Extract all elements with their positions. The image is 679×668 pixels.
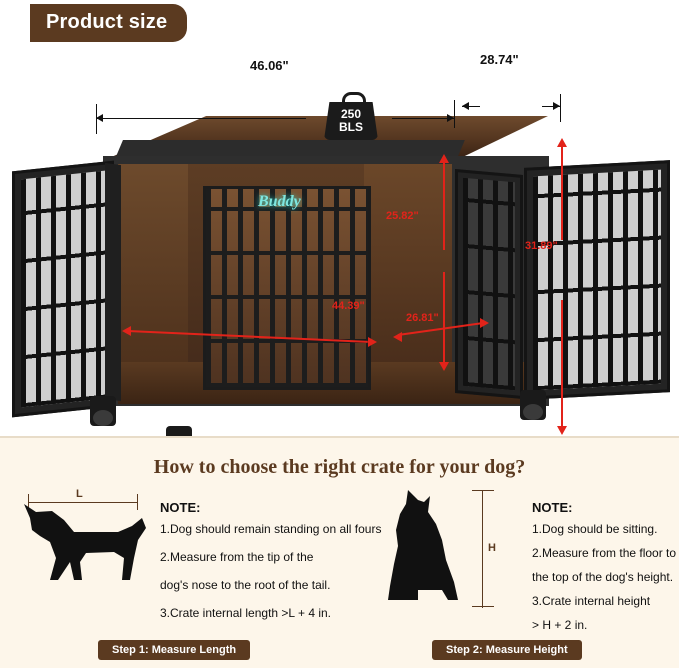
dim-arrow-internal-depth-right (480, 318, 489, 328)
dim-arrow-internal-length-right (368, 337, 377, 347)
dim-arrow-outer-height-down (557, 426, 567, 435)
dim-arrow-inner-height-up (439, 154, 449, 163)
left-note-1: 1.Dog should remain standing on all four… (160, 520, 381, 539)
dim-line-inner-height-lower (443, 272, 445, 364)
crate-front-grille (203, 186, 371, 390)
crate-door-left-hinge-panel (105, 163, 121, 401)
nameplate-text: Buddy (258, 193, 301, 211)
dog-standing-silhouette (22, 500, 148, 590)
crate-interior-left-wall (118, 164, 188, 394)
right-note-2: 2.Measure from the floor to (532, 544, 676, 563)
caster-wheel (520, 390, 546, 420)
caster-wheel (90, 396, 116, 426)
product-size-banner: Product size (30, 4, 187, 42)
dim-label-internal-length: 44.39" (332, 300, 365, 312)
dim-label-internal-depth: 26.81" (406, 312, 439, 324)
door-right-inner-bars (463, 178, 515, 391)
right-note-5: > H + 2 in. (532, 616, 587, 635)
crate-interior-right-wall (364, 164, 452, 394)
dim-arrow-outer-height-up (557, 138, 567, 147)
right-note-heading: NOTE: (532, 500, 572, 515)
dim-arrow-width-right (447, 114, 454, 122)
left-note-3: dog's nose to the root of the tail. (160, 576, 330, 595)
dog-sitting-silhouette (384, 490, 470, 610)
dim-arrow-internal-length-left (122, 326, 131, 336)
crate-door-right-outer (524, 160, 670, 400)
door-left-bars (21, 171, 105, 408)
dim-line-inner-height-upper (443, 160, 445, 250)
crate-door-left (12, 161, 114, 418)
dim-arrow-inner-height-down (439, 362, 449, 371)
weight-capacity-badge: 250 BLS (322, 92, 380, 140)
dim-label-outer-height: 31.89" (525, 240, 558, 252)
crate-door-right-inner (455, 169, 523, 399)
dim-arrow-depth-right (553, 102, 560, 110)
grille-bars (206, 189, 368, 387)
dim-line-outer-height-lower (561, 300, 563, 428)
weight-unit: BLS (324, 121, 378, 134)
height-measure-line (482, 490, 483, 608)
step-2-label: Step 2: Measure Height (432, 640, 582, 660)
weight-value-block: 250 BLS (324, 102, 378, 140)
dim-tick-width-right (454, 100, 455, 128)
dim-label-inner-height: 25.82" (386, 210, 419, 222)
dim-label-depth-top: 28.74" (480, 52, 519, 67)
right-note-4: 3.Crate internal height (532, 592, 650, 611)
right-note-1: 1.Dog should be sitting. (532, 520, 657, 539)
height-measure-label: H (488, 542, 496, 554)
left-note-heading: NOTE: (160, 500, 200, 515)
dim-tick-width-left (96, 104, 97, 134)
step-1-label: Step 1: Measure Length (98, 640, 250, 660)
guide-title: How to choose the right crate for your d… (0, 456, 679, 479)
dim-line-width-left (96, 118, 306, 119)
dim-arrow-internal-depth-left (393, 332, 402, 342)
product-size-infographic: Product size Buddy 250 (0, 0, 679, 668)
height-measure-tick-bottom (472, 606, 494, 607)
door-right-outer-bars (533, 170, 661, 391)
right-note-3: the top of the dog's height. (532, 568, 673, 587)
dim-arrow-depth-left (462, 102, 469, 110)
product-photo: Buddy 250 BLS 46.06" 28.74" 25.82" (0, 44, 679, 438)
height-measure-tick-top (472, 490, 494, 491)
dim-line-width-right (392, 118, 454, 119)
length-measure-label: L (76, 488, 83, 500)
dim-arrow-width-left (96, 114, 103, 122)
dim-line-outer-height-upper (561, 144, 563, 240)
crate-selection-guide: How to choose the right crate for your d… (0, 438, 679, 668)
left-note-2: 2.Measure from the tip of the (160, 548, 313, 567)
dim-tick-depth-right (560, 94, 561, 122)
dim-label-width-top: 46.06" (250, 58, 289, 73)
left-note-4: 3.Crate internal length >L + 4 in. (160, 604, 331, 623)
